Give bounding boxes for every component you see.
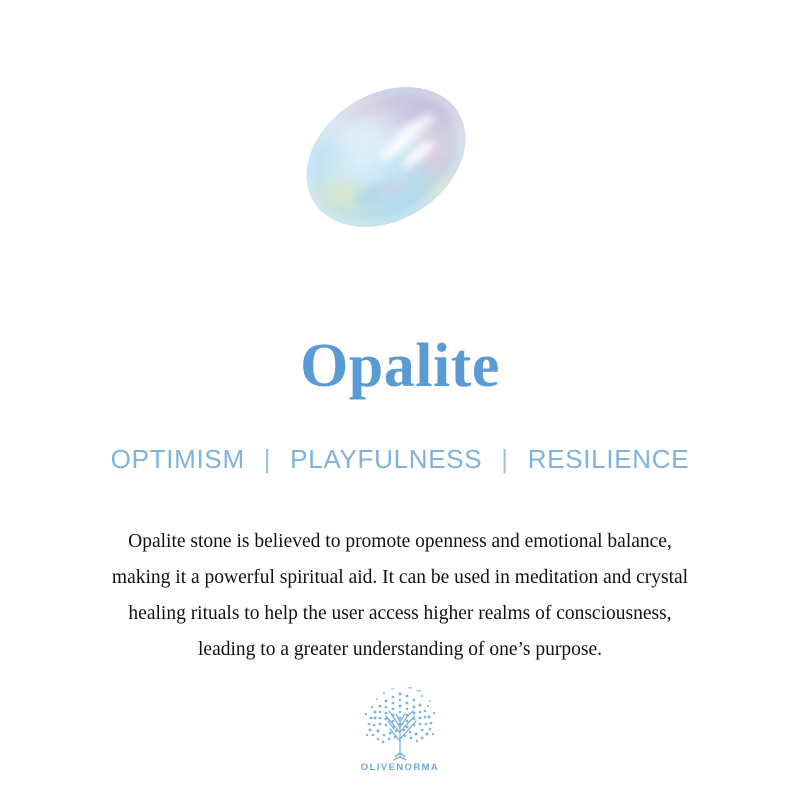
brand-logo: OLIVENORMA [350, 683, 450, 783]
olive-tree-logo-icon [350, 683, 450, 761]
opalite-stone-image [296, 80, 476, 235]
opalite-cabochon-icon [296, 80, 476, 235]
description-line: leading to a greater understanding of on… [0, 632, 800, 668]
description-paragraph: Opalite stone is believed to promote ope… [0, 524, 800, 668]
brand-wordmark: OLIVENORMA [350, 762, 450, 773]
keyword-separator: | [253, 444, 282, 474]
opalite-info-card: Opalite OPTIMISM | PLAYFULNESS | RESILIE… [0, 0, 800, 800]
description-line: healing rituals to help the user access … [0, 596, 800, 632]
keyword-separator: | [490, 444, 519, 474]
keyword-resilience: RESILIENCE [528, 444, 690, 474]
keyword-optimism: OPTIMISM [111, 444, 245, 474]
description-line: Opalite stone is believed to promote ope… [0, 524, 800, 560]
page-title: Opalite [0, 335, 800, 397]
keyword-list: OPTIMISM | PLAYFULNESS | RESILIENCE [0, 444, 800, 475]
keyword-playfulness: PLAYFULNESS [290, 444, 482, 474]
description-line: making it a powerful spiritual aid. It c… [0, 560, 800, 596]
